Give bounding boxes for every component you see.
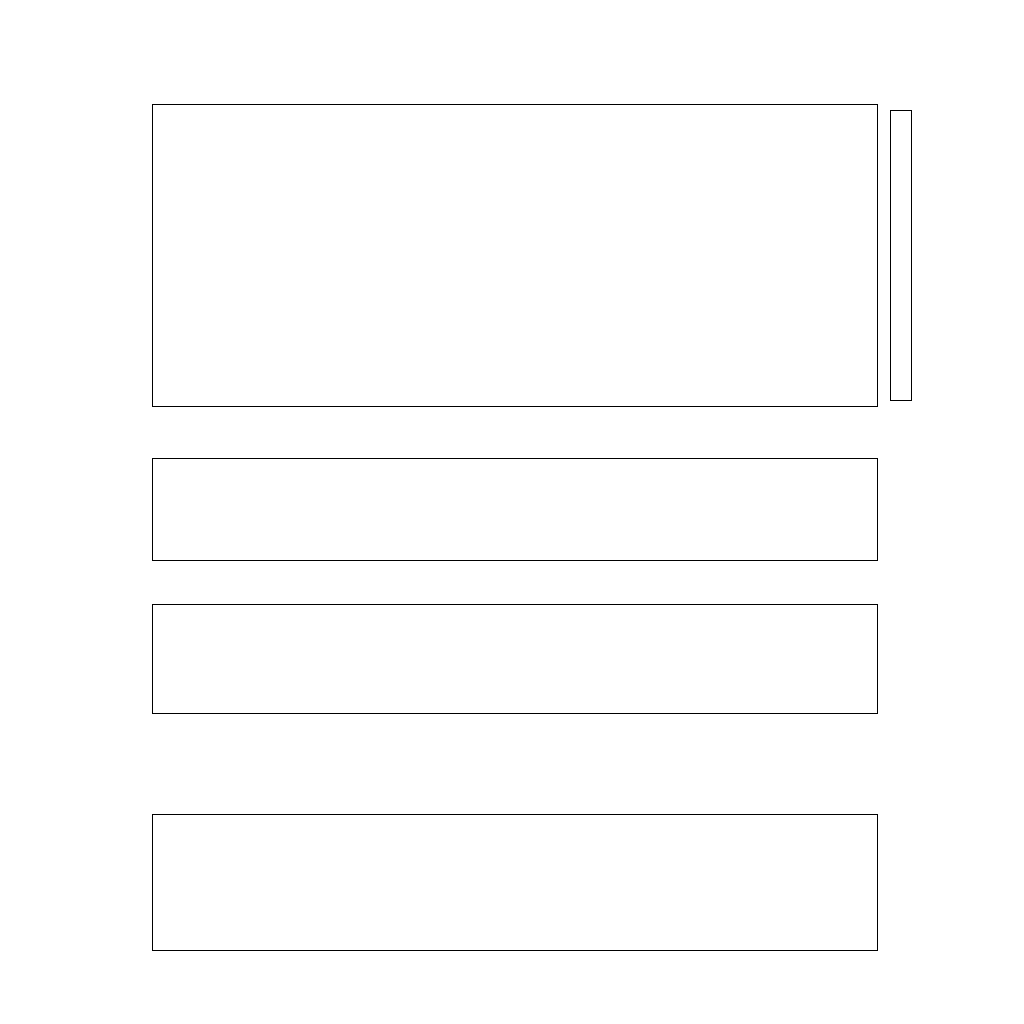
pmsl-plot — [152, 458, 878, 561]
forecast-chart-page — [0, 0, 1024, 1024]
cross-section-canvas — [153, 105, 878, 407]
cross-section-plot — [152, 104, 878, 407]
colorbar — [890, 110, 912, 401]
temp-svg — [153, 605, 878, 714]
temp-plot — [152, 604, 878, 714]
pmsl-svg — [153, 459, 878, 561]
precip-svg — [153, 815, 878, 951]
precip-plot — [152, 814, 878, 951]
colorbar-gradient — [891, 111, 911, 400]
